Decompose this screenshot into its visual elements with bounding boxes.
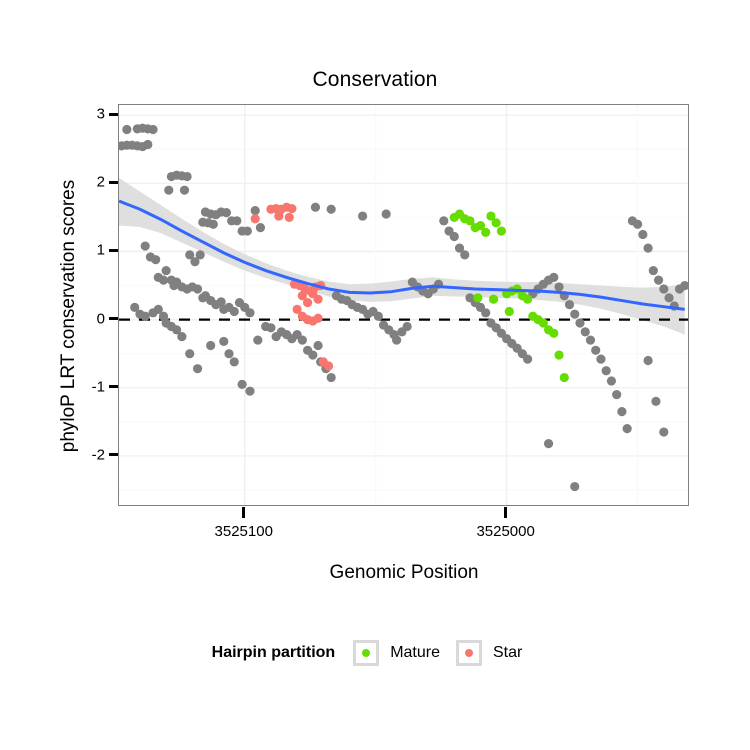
data-point-other [575, 318, 584, 327]
y-tick-mark [109, 453, 118, 456]
data-point-other [185, 349, 194, 358]
data-point-other [392, 335, 401, 344]
data-point-other [313, 341, 322, 350]
x-tick-mark [504, 507, 507, 518]
data-point-other [439, 216, 448, 225]
data-point-other [251, 206, 260, 215]
data-point-other [230, 357, 239, 366]
data-point-other [651, 397, 660, 406]
data-point-other [230, 307, 239, 316]
data-point-other [141, 241, 150, 250]
y-tick-label: 2 [97, 174, 105, 191]
legend-item-mature[interactable]: Mature [353, 640, 440, 666]
data-point-other [253, 335, 262, 344]
y-tick-mark [109, 113, 118, 116]
data-point-other [664, 293, 673, 302]
x-tick-mark [242, 507, 245, 518]
data-point-other [219, 337, 228, 346]
data-point-other [649, 266, 658, 275]
data-point-other [164, 186, 173, 195]
data-point-other [298, 335, 307, 344]
data-point-other [643, 356, 652, 365]
data-point-other [403, 322, 412, 331]
data-point-other [680, 281, 689, 290]
y-tick-mark [109, 317, 118, 320]
data-point-other [162, 266, 171, 275]
y-tick-mark [109, 385, 118, 388]
data-point-other [659, 284, 668, 293]
data-point-other [654, 276, 663, 285]
data-point-other [209, 220, 218, 229]
x-axis-label: Genomic Position [118, 562, 690, 584]
data-point-other [659, 427, 668, 436]
data-point-other [596, 355, 605, 364]
x-axis: 35251003525000 [118, 507, 689, 557]
legend-key-swatch [353, 640, 379, 666]
y-tick-label: 1 [97, 242, 105, 259]
data-point-other [151, 255, 160, 264]
data-point-other [122, 125, 131, 134]
x-tick-label: 3525100 [215, 523, 273, 540]
data-point-other [523, 355, 532, 364]
data-point-other [602, 366, 611, 375]
data-point-other [586, 335, 595, 344]
data-point-other [374, 312, 383, 321]
data-point-mature [492, 218, 501, 227]
data-point-other [633, 220, 642, 229]
legend-label: Mature [390, 644, 440, 662]
data-point-other [177, 332, 186, 341]
data-point-mature [473, 293, 482, 302]
data-point-other [607, 376, 616, 385]
data-point-other [266, 323, 275, 332]
legend-title: Hairpin partition [212, 644, 336, 662]
data-point-mature [505, 307, 514, 316]
data-point-other [193, 284, 202, 293]
data-point-star [274, 211, 283, 220]
legend-dot-icon [465, 649, 473, 657]
data-point-star [287, 204, 296, 213]
data-point-other [243, 226, 252, 235]
data-point-other [238, 380, 247, 389]
data-point-other [206, 341, 215, 350]
data-point-other [185, 250, 194, 259]
data-point-other [358, 211, 367, 220]
legend-key-swatch [456, 640, 482, 666]
data-point-other [232, 216, 241, 225]
data-point-other [591, 346, 600, 355]
data-point-other [623, 424, 632, 433]
data-point-other [544, 439, 553, 448]
legend-label: Star [493, 644, 522, 662]
data-point-other [327, 205, 336, 214]
data-point-other [581, 327, 590, 336]
data-point-other [643, 243, 652, 252]
legend: Hairpin partition MatureStar [0, 640, 750, 666]
data-point-star [313, 295, 322, 304]
data-point-other [612, 390, 621, 399]
data-point-other [183, 172, 192, 181]
data-point-star [324, 361, 333, 370]
data-point-star [251, 214, 260, 223]
y-tick-label: -1 [92, 378, 105, 395]
data-point-other [256, 223, 265, 232]
data-point-other [570, 482, 579, 491]
data-point-other [460, 250, 469, 259]
data-point-mature [497, 226, 506, 235]
data-point-other [554, 282, 563, 291]
data-point-other [224, 349, 233, 358]
data-point-other [193, 364, 202, 373]
y-axis: 3210-1-2 [60, 104, 118, 506]
data-point-other [143, 140, 152, 149]
data-point-other [638, 230, 647, 239]
data-point-other [311, 203, 320, 212]
data-point-other [245, 308, 254, 317]
data-point-star [285, 213, 294, 222]
data-point-other [245, 387, 254, 396]
legend-dot-icon [362, 649, 370, 657]
data-point-mature [549, 329, 558, 338]
y-tick-mark [109, 181, 118, 184]
data-point-other [148, 125, 157, 134]
data-point-other [549, 273, 558, 282]
data-point-other [617, 407, 626, 416]
data-point-mature [489, 295, 498, 304]
data-point-other [180, 186, 189, 195]
data-point-mature [481, 228, 490, 237]
chart-root: Conservation phyloP LRT conservation sco… [0, 0, 750, 750]
data-point-star [303, 298, 312, 307]
data-point-mature [560, 373, 569, 382]
data-point-other [481, 308, 490, 317]
data-point-star [313, 314, 322, 323]
data-point-other [570, 310, 579, 319]
data-point-other [565, 300, 574, 309]
data-point-other [327, 373, 336, 382]
data-point-other [382, 209, 391, 218]
data-point-other [196, 250, 205, 259]
y-tick-label: 3 [97, 106, 105, 123]
y-tick-label: 0 [97, 310, 105, 327]
data-point-mature [523, 295, 532, 304]
page-title: Conservation [0, 68, 750, 92]
data-point-mature [554, 350, 563, 359]
data-point-other [141, 312, 150, 321]
data-point-other [159, 276, 168, 285]
legend-item-star[interactable]: Star [456, 640, 522, 666]
plot-canvas [119, 105, 689, 506]
data-point-other [308, 350, 317, 359]
y-tick-label: -2 [92, 446, 105, 463]
data-point-other [222, 208, 231, 217]
x-tick-label: 3525000 [476, 523, 534, 540]
y-tick-mark [109, 249, 118, 252]
data-point-other [450, 232, 459, 241]
plot-panel [118, 104, 689, 506]
